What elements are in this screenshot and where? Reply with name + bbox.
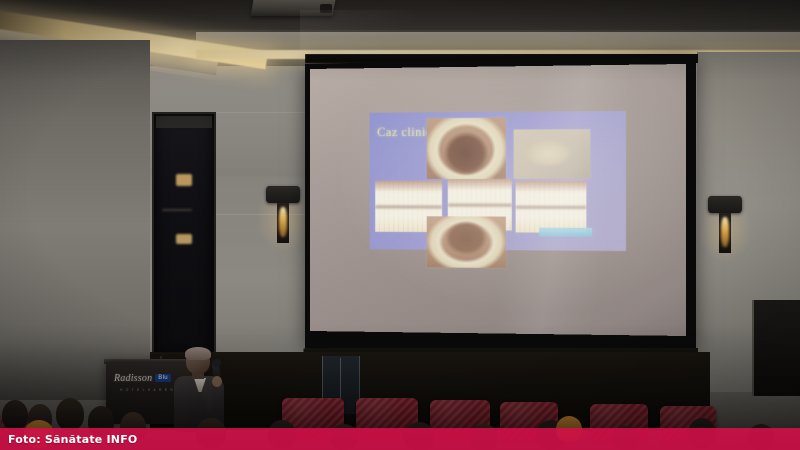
photo-credit-bar: Foto: Sănătate INFO xyxy=(0,428,800,450)
audience-head xyxy=(56,398,84,430)
doorway-recess xyxy=(152,112,216,362)
sconce-body xyxy=(277,203,289,243)
slide-photo-mandibular-occlusal-view xyxy=(427,216,506,268)
sconce-lamp-glow xyxy=(721,217,729,247)
presentation-slide: Caz clinic 3 xyxy=(370,111,626,251)
presenter-figure xyxy=(168,348,230,430)
right-door xyxy=(752,300,800,396)
sconce-shade xyxy=(708,196,742,213)
projector-lens xyxy=(320,4,332,13)
presenter-hand xyxy=(212,376,222,387)
left-wall xyxy=(0,40,150,400)
brand-name-text: Radisson xyxy=(114,373,152,384)
doorway-header xyxy=(156,116,212,128)
audience-head xyxy=(2,400,28,430)
ceiling-shelf-right xyxy=(196,32,800,52)
presenter-hair xyxy=(185,347,211,360)
sconce-shade xyxy=(266,186,300,203)
doorway-light-reflection xyxy=(176,234,192,244)
slide-photo-upper-cast-model-view xyxy=(514,129,591,179)
slide-highlight-text-bar xyxy=(539,228,592,237)
doorway-light-reflection xyxy=(176,174,192,186)
photograph-scene: Caz clinic 3 Radisson Blu H O T E L S & … xyxy=(0,0,800,450)
photo-credit-text: Foto: Sănătate INFO xyxy=(8,433,137,446)
slide-photo-right-lateral-occlusion-view xyxy=(516,181,587,233)
sconce-lamp-glow xyxy=(279,207,287,237)
doorway-edge-line xyxy=(162,209,192,211)
slide-photo-maxillary-occlusal-view xyxy=(427,118,506,179)
microphone-capsule xyxy=(212,359,221,367)
sconce-body xyxy=(719,213,731,253)
